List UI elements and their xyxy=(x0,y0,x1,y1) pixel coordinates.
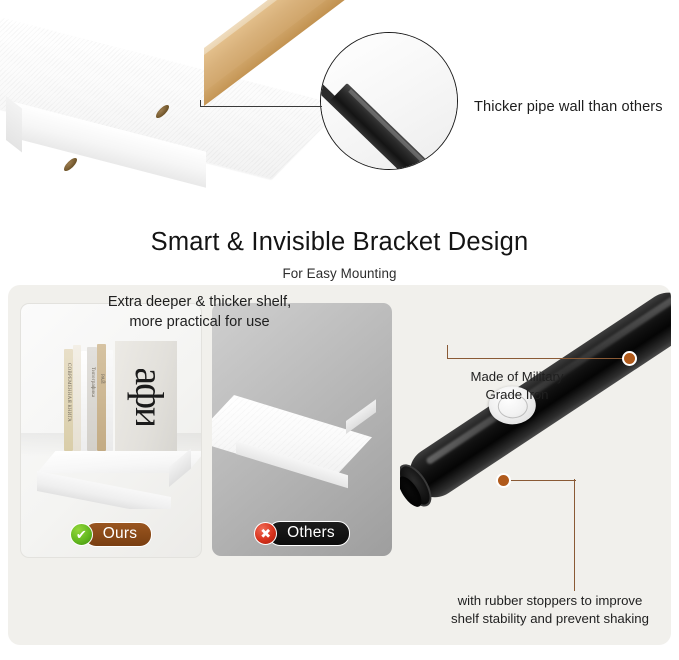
callout-bottom-marker-dot xyxy=(496,473,511,488)
hero-section: Thicker pipe wall than others xyxy=(0,0,679,212)
bracket-hole-icon xyxy=(64,155,77,173)
badge-ours: ✔ Ours xyxy=(70,522,152,547)
floating-shelf-image xyxy=(4,18,364,188)
comparison-card-ours: СОВРЕМЕННАЯ КНИГА Типографика РАЙ график… xyxy=(20,303,202,558)
callout-rubber-stoppers: with rubber stoppers to improve shelf st… xyxy=(420,592,679,628)
hero-leader-line xyxy=(200,106,322,107)
ours-shelf-scene: СОВРЕМЕННАЯ КНИГА Типографика РАЙ график… xyxy=(21,304,201,509)
hero-callout-label: Thicker pipe wall than others xyxy=(474,99,679,115)
comparison-caption-line2: more practical for use xyxy=(129,314,269,330)
callout-top-line1: Made of Military xyxy=(470,369,563,384)
book-cover-glyph: графика xyxy=(95,369,201,425)
x-circle-icon: ✖ xyxy=(254,522,277,545)
book-spine xyxy=(73,345,81,451)
callout-bottom-line2: shelf stability and prevent shaking xyxy=(451,611,649,626)
others-badge-row: ✖ Others xyxy=(212,521,392,546)
callout-bottom-leader-vertical xyxy=(574,479,575,591)
comparison-caption: Extra deeper & thicker shelf, more pract… xyxy=(12,292,387,332)
comparison-cards: СОВРЕМЕННАЯ КНИГА Типографика РАЙ график… xyxy=(20,303,395,563)
comparison-card-others: ✖ Others xyxy=(212,303,392,556)
callout-bottom-leader-horizontal xyxy=(504,480,576,481)
callout-military-grade-iron: Made of Military Grade Iron xyxy=(437,368,597,404)
badge-ours-label: Ours xyxy=(84,522,152,547)
callout-top-leader-horizontal xyxy=(447,358,625,359)
page-subtitle: For Easy Mounting xyxy=(0,266,679,281)
badge-others-label: Others xyxy=(268,521,350,546)
ours-badge-row: ✔ Ours xyxy=(21,522,201,547)
pipe-bore xyxy=(400,473,426,510)
page-title: Smart & Invisible Bracket Design xyxy=(0,228,679,257)
book-spine-text: СОВРЕМЕННАЯ КНИГА xyxy=(66,363,71,422)
ours-shelf-front xyxy=(37,471,171,509)
check-circle-icon: ✔ xyxy=(70,523,93,546)
others-shelf-side xyxy=(346,399,376,434)
callout-top-line2: Grade Iron xyxy=(485,387,548,402)
comparison-caption-line1: Extra deeper & thicker shelf, xyxy=(108,294,291,310)
magnifier-circle-icon xyxy=(320,32,458,170)
pipe-feature-image xyxy=(400,285,671,645)
callout-bottom-line1: with rubber stoppers to improve xyxy=(458,593,643,608)
callout-top-marker-dot xyxy=(622,351,637,366)
book-cover: графика xyxy=(113,341,177,453)
book-spine: СОВРЕМЕННАЯ КНИГА xyxy=(64,349,73,451)
badge-others: ✖ Others xyxy=(254,521,350,546)
features-panel: СОВРЕМЕННАЯ КНИГА Типографика РАЙ график… xyxy=(8,285,671,645)
